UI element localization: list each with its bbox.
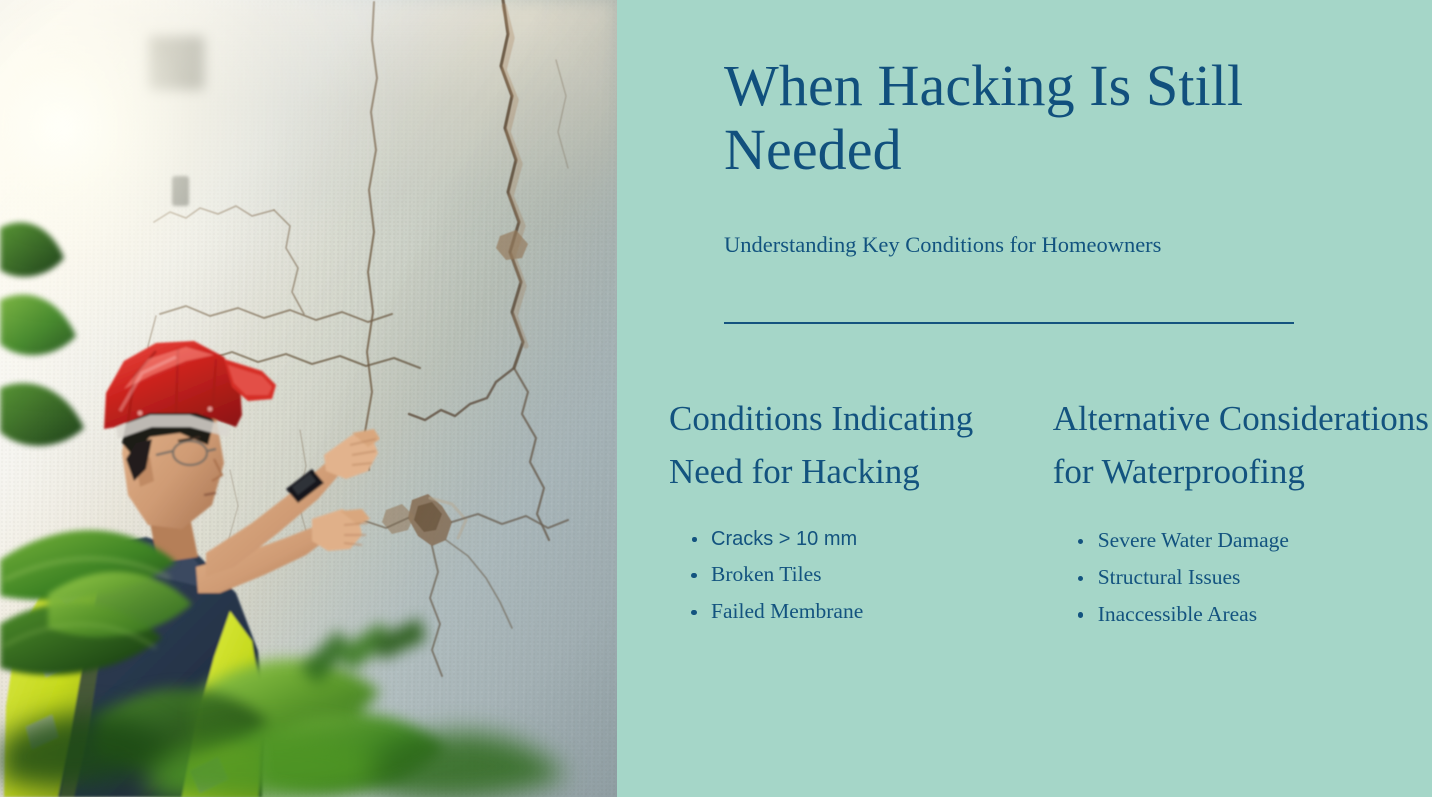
column-conditions: Conditions Indicating Need for Hacking C…	[669, 393, 1023, 633]
page-subtitle: Understanding Key Conditions for Homeown…	[724, 228, 1194, 263]
content-panel: When Hacking Is Still Needed Understandi…	[617, 0, 1432, 797]
list-item: Failed Membrane	[689, 593, 1023, 630]
bullet-list: Severe Water Damage Structural Issues In…	[1053, 522, 1432, 633]
slide: When Hacking Is Still Needed Understandi…	[0, 0, 1432, 805]
photo-vignette	[0, 0, 617, 797]
column-alternatives: Alternative Considerations for Waterproo…	[1053, 393, 1432, 633]
column-heading: Alternative Considerations for Waterproo…	[1053, 393, 1432, 498]
list-item: Structural Issues	[1076, 559, 1432, 596]
page-title: When Hacking Is Still Needed	[724, 54, 1309, 182]
content-columns: Conditions Indicating Need for Hacking C…	[617, 393, 1432, 633]
bullet-list: Cracks > 10 mm Broken Tiles Failed Membr…	[669, 522, 1023, 630]
title-divider	[724, 322, 1294, 324]
list-item: Broken Tiles	[689, 556, 1023, 593]
bottom-edge	[0, 797, 1432, 805]
hero-photo	[0, 0, 617, 797]
list-item: Inaccessible Areas	[1076, 596, 1432, 633]
list-item: Severe Water Damage	[1076, 522, 1432, 559]
column-heading: Conditions Indicating Need for Hacking	[669, 393, 1023, 498]
list-item: Cracks > 10 mm	[689, 522, 1023, 556]
